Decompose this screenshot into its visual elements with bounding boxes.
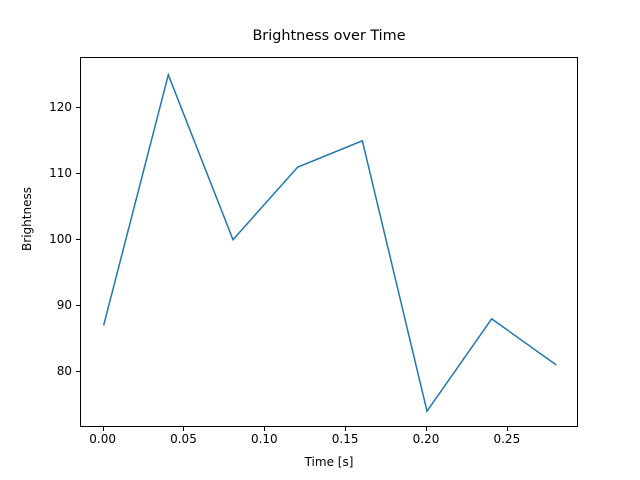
x-tick-mark	[426, 427, 427, 431]
y-tick-label: 80	[57, 365, 72, 377]
x-tick-label: 0.15	[332, 433, 359, 445]
chart-title: Brightness over Time	[80, 28, 578, 44]
x-axis-tick-labels: 0.000.050.100.150.200.25	[80, 433, 578, 453]
x-tick-label: 0.10	[251, 433, 278, 445]
y-tick-mark	[76, 173, 80, 174]
x-tick-label: 0.25	[493, 433, 520, 445]
y-tick-label: 110	[49, 167, 72, 179]
y-axis-label: Brightness	[20, 149, 34, 289]
y-axis-tick-labels: 8090100110120	[30, 57, 72, 427]
x-tick-mark	[264, 427, 265, 431]
y-tick-label: 120	[49, 101, 72, 113]
x-tick-mark	[345, 427, 346, 431]
x-axis-label: Time [s]	[80, 455, 578, 469]
y-tick-mark	[76, 371, 80, 372]
plot-area	[80, 57, 578, 427]
y-tick-label: 100	[49, 233, 72, 245]
y-tick-mark	[76, 107, 80, 108]
y-tick-mark	[76, 239, 80, 240]
x-tick-mark	[507, 427, 508, 431]
y-tick-mark	[76, 305, 80, 306]
x-tick-label: 0.05	[170, 433, 197, 445]
x-tick-label: 0.00	[89, 433, 116, 445]
x-tick-mark	[103, 427, 104, 431]
brightness-line	[104, 75, 557, 411]
x-tick-label: 0.20	[413, 433, 440, 445]
x-tick-mark	[183, 427, 184, 431]
chart-figure: Brightness over Time 8090100110120 0.000…	[0, 0, 640, 480]
y-tick-label: 90	[57, 299, 72, 311]
line-series-svg	[81, 58, 579, 428]
